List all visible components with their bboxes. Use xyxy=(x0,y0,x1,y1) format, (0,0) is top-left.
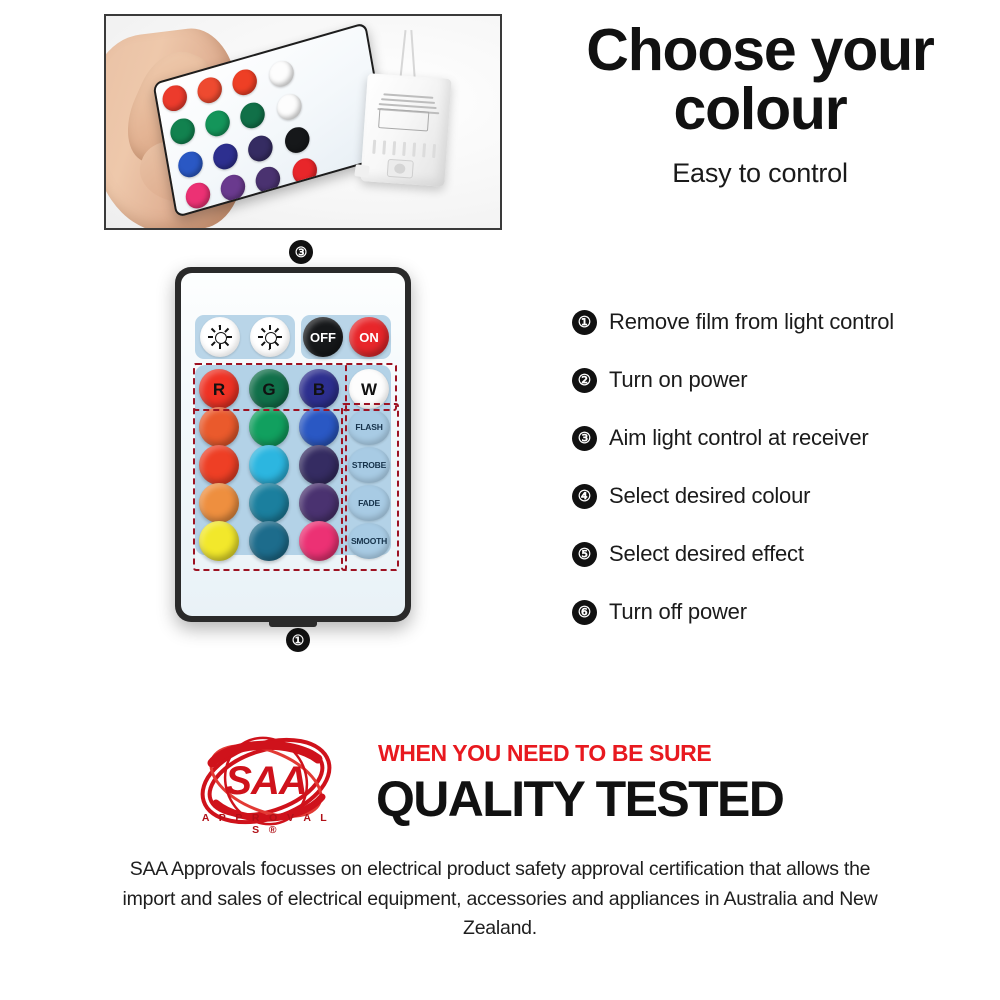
product-photo xyxy=(104,14,502,230)
controller-port xyxy=(387,159,414,179)
step-label: Turn on power xyxy=(609,367,747,393)
list-item: ② Turn on power xyxy=(572,351,982,409)
step-number-badge: ⑤ xyxy=(572,542,597,567)
colour-button-orange[interactable] xyxy=(199,483,239,523)
controller-cable xyxy=(394,30,424,80)
colour-button-blue[interactable]: B xyxy=(299,369,339,409)
page-title: Choose your colour xyxy=(545,22,975,137)
list-item: ① Remove film from light control xyxy=(572,293,982,351)
remote-control-diagram: ↑ ↓ OFF ON R G B W xyxy=(175,267,411,622)
saa-logo-text: SAA xyxy=(196,759,336,804)
colour-button-cyan[interactable] xyxy=(249,445,289,485)
colour-button-green[interactable]: G xyxy=(249,369,289,409)
saa-logo: SAA A P P R O V A L S ® xyxy=(196,733,336,838)
step-number-badge: ① xyxy=(572,310,597,335)
colour-button-yellow[interactable] xyxy=(199,521,239,561)
step-number-badge: ④ xyxy=(572,484,597,509)
colour-button-dark-teal[interactable] xyxy=(249,521,289,561)
infographic-page: Choose your colour Easy to control ① Rem… xyxy=(0,0,1000,1000)
colour-button-pink[interactable] xyxy=(299,521,339,561)
step-number-badge: ⑥ xyxy=(572,600,597,625)
effect-button-fade[interactable]: FADE xyxy=(348,485,390,521)
instruction-list: ① Remove film from light control ② Turn … xyxy=(572,293,982,641)
callout-marker-1: ① xyxy=(286,628,310,652)
colour-button-orange-red[interactable] xyxy=(199,407,239,447)
colour-button-emerald[interactable] xyxy=(249,407,289,447)
saa-approvals-text: A P P R O V A L S ® xyxy=(196,812,336,836)
step-label: Aim light control at receiver xyxy=(609,425,869,451)
sun-brightness-down-icon: ↓ xyxy=(259,326,281,348)
arrow-up-glyph: ↑ xyxy=(217,323,222,332)
page-subtitle: Easy to control xyxy=(545,158,975,189)
list-item: ⑥ Turn off power xyxy=(572,583,982,641)
callout-marker-3: ③ xyxy=(289,240,313,264)
title-line-2: colour xyxy=(545,81,975,138)
power-on-button[interactable]: ON xyxy=(349,317,389,357)
step-number-badge: ③ xyxy=(572,426,597,451)
colour-button-red[interactable]: R xyxy=(199,369,239,409)
title-line-1: Choose your xyxy=(586,17,933,83)
step-label: Select desired colour xyxy=(609,483,810,509)
controller-body xyxy=(360,73,451,187)
effect-button-flash[interactable]: FLASH xyxy=(348,409,390,445)
controller-vents xyxy=(372,140,437,158)
controller-mount-tab xyxy=(354,164,370,178)
controller-printed-label xyxy=(372,82,441,138)
colour-button-purple[interactable] xyxy=(299,483,339,523)
brightness-down-button[interactable]: ↓ xyxy=(250,317,290,357)
step-label: Select desired effect xyxy=(609,541,804,567)
brightness-up-button[interactable]: ↑ xyxy=(200,317,240,357)
sun-brightness-up-icon: ↑ xyxy=(209,326,231,348)
quality-tagline-top: WHEN YOU NEED TO BE SURE xyxy=(378,740,711,767)
effect-button-smooth[interactable]: SMOOTH xyxy=(348,523,390,559)
step-number-badge: ② xyxy=(572,368,597,393)
photo-background xyxy=(106,16,500,228)
remote-faceplate: ↑ ↓ OFF ON R G B W xyxy=(181,273,405,616)
arrow-down-glyph: ↓ xyxy=(267,343,272,352)
saa-description: SAA Approvals focusses on electrical pro… xyxy=(120,855,880,944)
colour-button-royal-blue[interactable] xyxy=(299,407,339,447)
quality-tagline-main: QUALITY TESTED xyxy=(376,770,783,828)
power-off-button[interactable]: OFF xyxy=(303,317,343,357)
ir-emitter xyxy=(269,619,317,627)
list-item: ⑤ Select desired effect xyxy=(572,525,982,583)
colour-button-red-orange[interactable] xyxy=(199,445,239,485)
list-item: ③ Aim light control at receiver xyxy=(572,409,982,467)
list-item: ④ Select desired colour xyxy=(572,467,982,525)
colour-button-dark-purple[interactable] xyxy=(299,445,339,485)
rgb-controller-box xyxy=(342,34,452,204)
wiring-diagram-icon xyxy=(378,108,429,131)
step-label: Remove film from light control xyxy=(609,309,894,335)
colour-button-teal[interactable] xyxy=(249,483,289,523)
effect-button-strobe[interactable]: STROBE xyxy=(348,447,390,483)
colour-button-white[interactable]: W xyxy=(349,369,389,409)
step-label: Turn off power xyxy=(609,599,747,625)
